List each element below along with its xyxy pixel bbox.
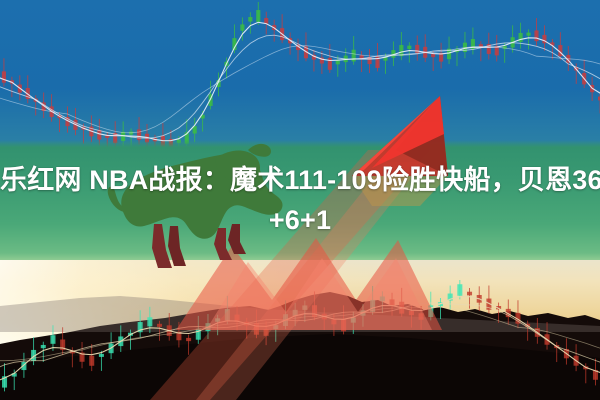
thumbnail-canvas: 乐红网 NBA战报：魔术111-109险胜快船，贝恩36 +6+1 — [0, 0, 600, 400]
headline-line-2: +6+1 — [0, 200, 600, 240]
page-title: 乐红网 NBA战报：魔术111-109险胜快船，贝恩36 +6+1 — [0, 160, 600, 240]
headline-line-1: 乐红网 NBA战报：魔术111-109险胜快船，贝恩36 — [0, 165, 600, 195]
